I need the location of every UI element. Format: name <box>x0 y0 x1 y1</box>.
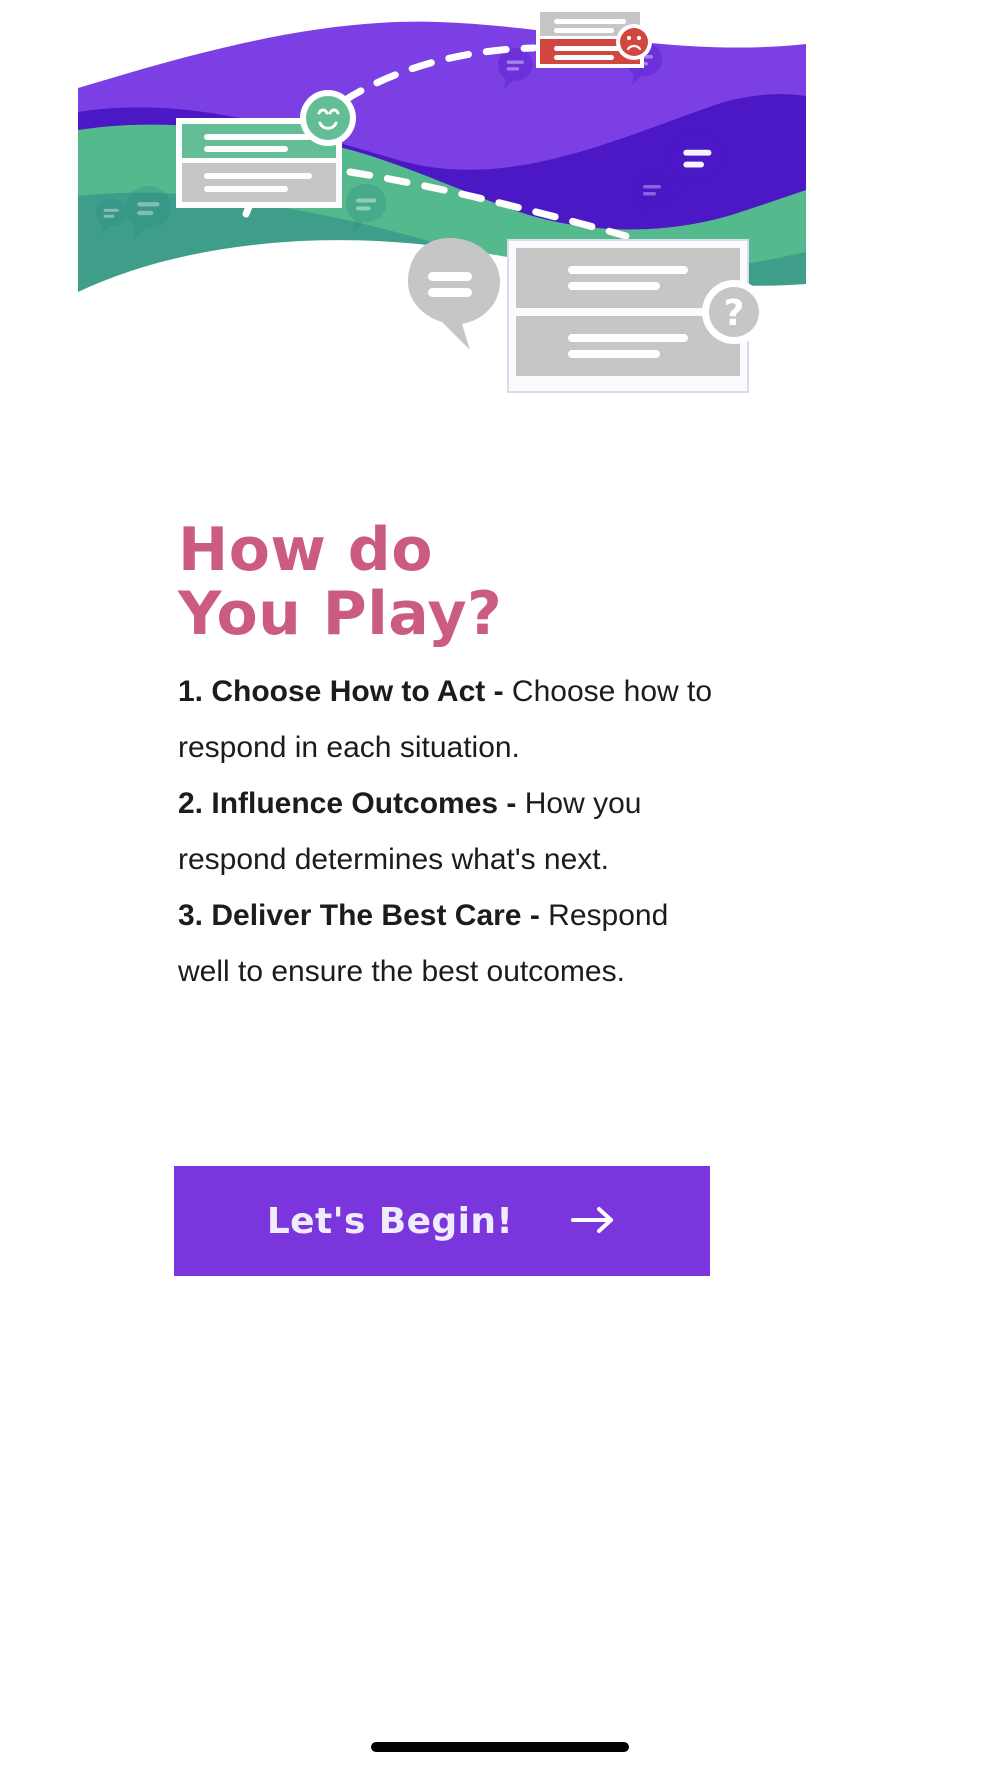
step-title: Influence Outcomes <box>211 787 498 820</box>
phone-screen: ? How do You Play? 1. Choose How to Act … <box>0 0 1000 1778</box>
question-mark-icon: ? <box>702 280 766 344</box>
negative-message-card <box>536 8 652 68</box>
svg-text:?: ? <box>724 293 745 334</box>
step-title: Choose How to Act <box>211 675 485 708</box>
step-number: 1. <box>178 675 211 708</box>
lets-begin-button[interactable]: Let's Begin! <box>174 1166 710 1276</box>
step-separator: - <box>485 675 503 708</box>
step-separator: - <box>522 899 540 932</box>
step-title: Deliver The Best Care <box>211 899 521 932</box>
happy-face-icon <box>300 90 356 146</box>
hero-illustration: ? <box>78 0 806 400</box>
step-separator: - <box>498 787 516 820</box>
arrow-right-icon <box>569 1203 617 1240</box>
list-item: 1. Choose How to Act - Choose how to res… <box>178 664 718 776</box>
step-number: 2. <box>178 787 211 820</box>
question-message-card: ? <box>508 240 766 392</box>
instructions-list: 1. Choose How to Act - Choose how to res… <box>178 664 718 1000</box>
list-item: 2. Influence Outcomes - How you respond … <box>178 776 718 888</box>
lets-begin-button-label: Let's Begin! <box>267 1201 513 1242</box>
page-title: How do You Play? <box>178 518 818 646</box>
page-title-line-2: You Play? <box>178 582 818 646</box>
sad-face-icon <box>616 24 652 60</box>
list-item: 3. Deliver The Best Care - Respond well … <box>178 888 718 1000</box>
step-number: 3. <box>178 899 211 932</box>
home-indicator[interactable] <box>371 1742 629 1752</box>
page-title-line-1: How do <box>178 518 818 582</box>
